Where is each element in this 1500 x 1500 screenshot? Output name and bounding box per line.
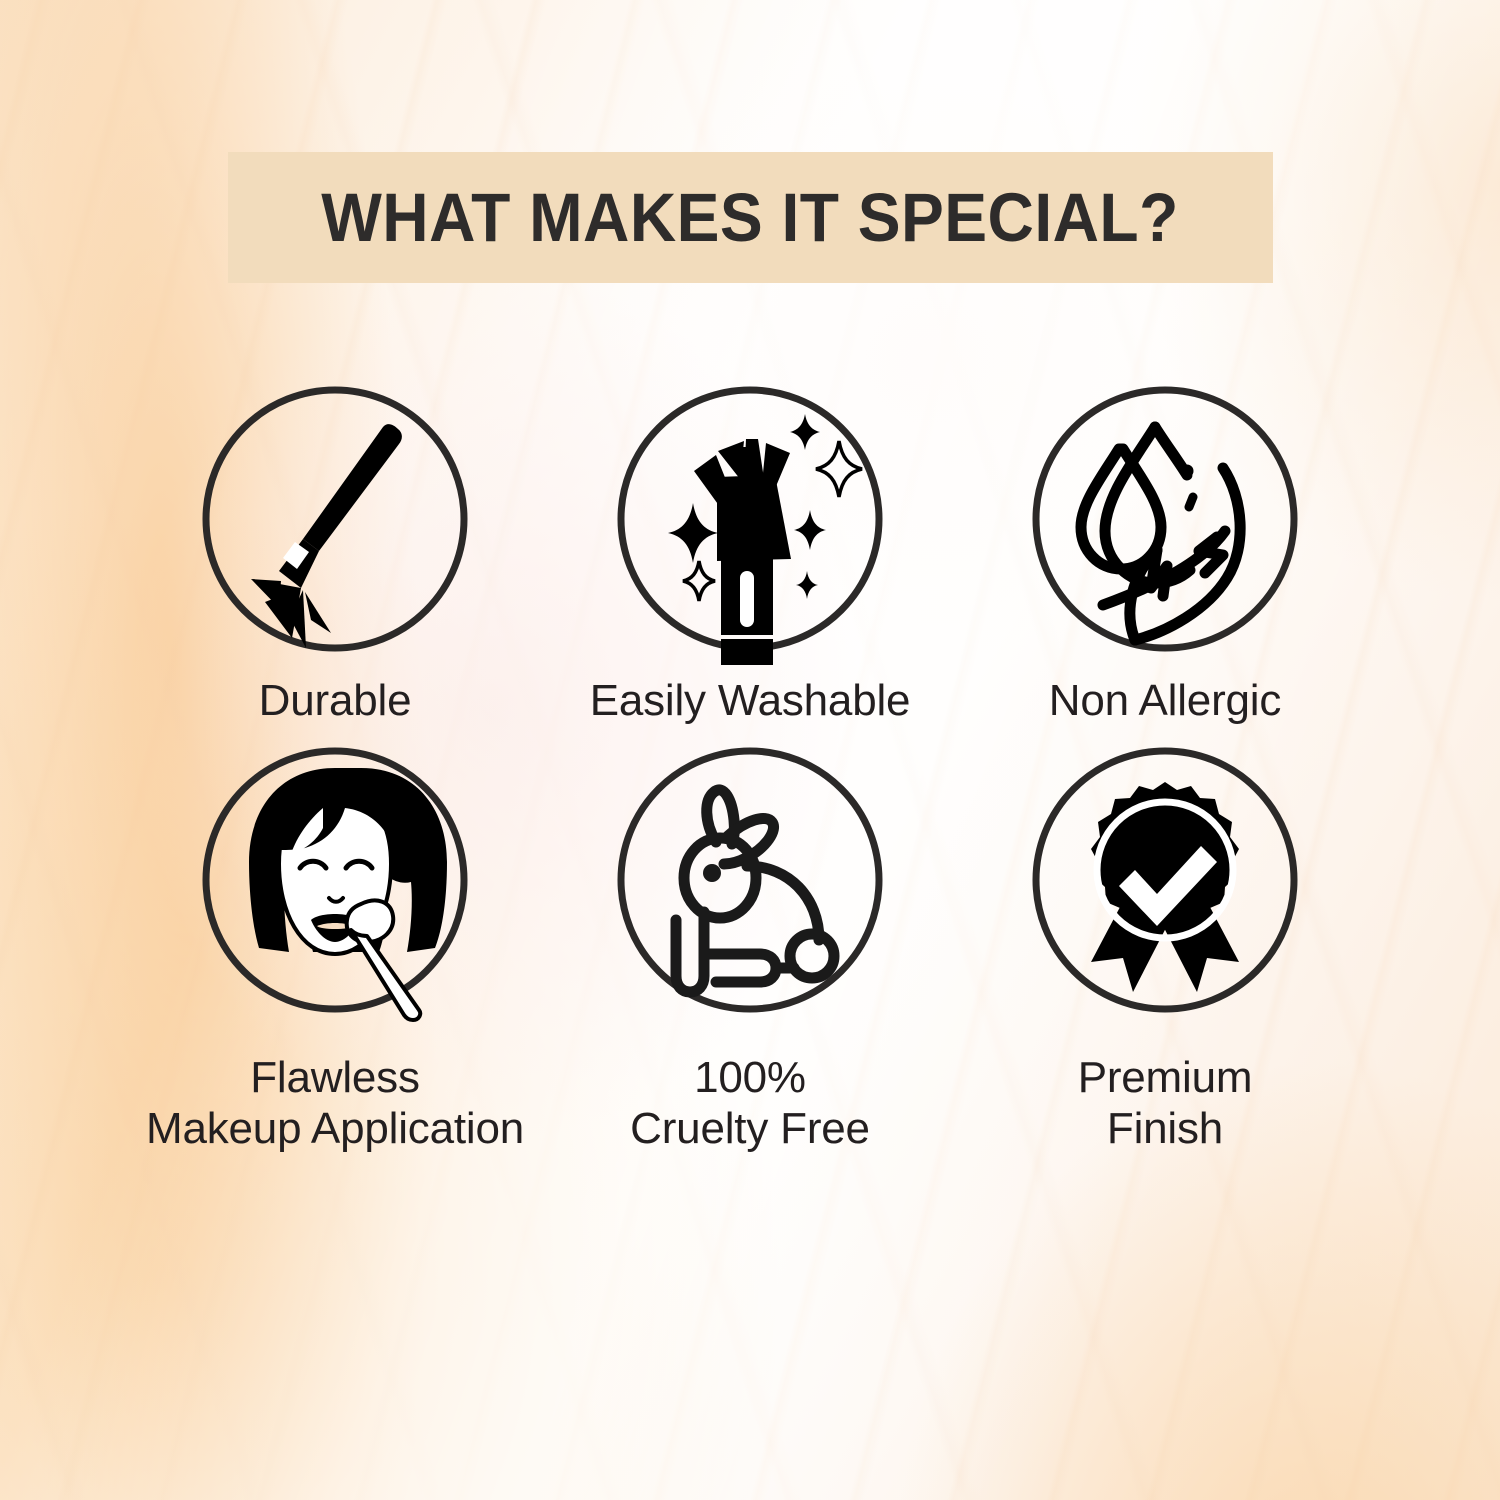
water-drop-feather-icon <box>1031 385 1299 653</box>
rabbit-icon <box>616 746 884 1014</box>
feature-grid: Durable <box>0 385 1500 1154</box>
feature-label: Flawless Makeup Application <box>146 1052 524 1154</box>
infographic-canvas: WHAT MAKES IT SPECIAL? <box>0 0 1500 1500</box>
makeup-brush-diagonal-icon <box>201 385 469 653</box>
icon-circle-flawless-makeup-application <box>201 746 469 1014</box>
feature-item-cruelty-free[interactable]: 100% Cruelty Free <box>543 746 958 1154</box>
icon-circle-premium-finish <box>1031 746 1299 1014</box>
icon-circle-cruelty-free <box>616 746 884 1014</box>
woman-applying-makeup-icon <box>201 746 469 1014</box>
award-ribbon-check-icon <box>1031 746 1299 1014</box>
page-title: WHAT MAKES IT SPECIAL? <box>322 183 1179 252</box>
feature-item-easily-washable[interactable]: Easily Washable <box>543 385 958 726</box>
feature-item-flawless-makeup-application[interactable]: Flawless Makeup Application <box>128 746 543 1154</box>
feature-item-durable[interactable]: Durable <box>128 385 543 726</box>
feature-item-non-allergic[interactable]: Non Allergic <box>958 385 1373 726</box>
icon-circle-durable <box>201 385 469 653</box>
feature-label: Premium Finish <box>1078 1052 1253 1154</box>
feature-label: Non Allergic <box>1049 675 1281 726</box>
feature-label: Durable <box>259 675 412 726</box>
icon-circle-non-allergic <box>1031 385 1299 653</box>
sparkling-fan-brush-icon <box>616 385 884 653</box>
title-banner: WHAT MAKES IT SPECIAL? <box>228 152 1273 283</box>
feature-item-premium-finish[interactable]: Premium Finish <box>958 746 1373 1154</box>
feature-label: Easily Washable <box>590 675 911 726</box>
icon-circle-easily-washable <box>616 385 884 653</box>
feature-label: 100% Cruelty Free <box>630 1052 870 1154</box>
